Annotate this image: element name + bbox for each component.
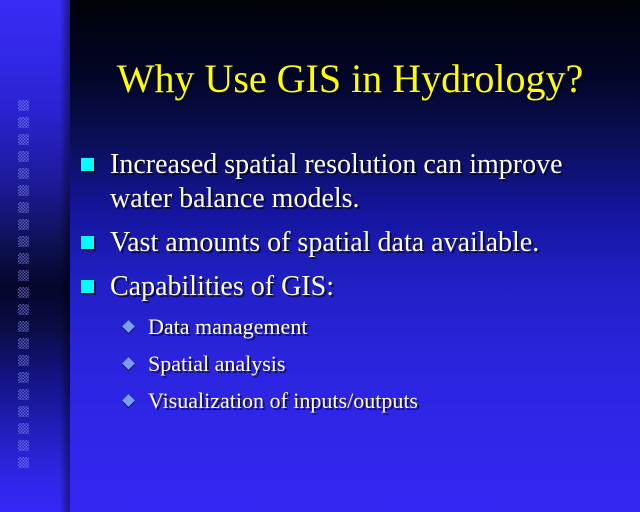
bullet-text: Capabilities of GIS: [110,271,334,302]
sidebar-dot [18,457,29,468]
slide-body: Increased spatial resolution can improve… [78,148,628,425]
sidebar-dot [18,168,29,179]
diamond-bullet-icon [122,394,135,407]
sidebar-dot-pattern [18,100,30,480]
sidebar-dot [18,423,29,434]
slide-title: Why Use GIS in Hydrology? [70,56,630,102]
sidebar-dot [18,440,29,451]
sidebar-edge-shadow [60,0,70,512]
sidebar-dot [18,202,29,213]
sidebar-dot [18,372,29,383]
sidebar-dot [18,304,29,315]
sidebar-dot [18,100,29,111]
square-bullet-icon [81,236,94,249]
sidebar-dot [18,236,29,247]
list-item: Data management [122,314,628,340]
sub-bullet-text: Data management [148,314,307,339]
list-item: Increased spatial resolution can improve… [78,148,628,216]
diamond-bullet-icon [122,320,135,333]
square-bullet-icon [81,158,94,171]
list-item: Visualization of inputs/outputs [122,388,628,414]
diamond-bullet-icon [122,357,135,370]
sub-bullet-text: Spatial analysis [148,351,285,376]
sidebar-dot [18,389,29,400]
bullet-text: Vast amounts of spatial data available. [110,227,539,258]
sidebar-dot [18,406,29,417]
presentation-slide: Why Use GIS in Hydrology? Increased spat… [0,0,640,512]
sidebar-dot [18,287,29,298]
sidebar-dot [18,134,29,145]
sub-bullet-list: Data management Spatial analysis Visuali… [78,314,628,414]
sidebar-dot [18,321,29,332]
list-item: Capabilities of GIS: [78,270,628,304]
sidebar-dot [18,185,29,196]
sidebar-dot [18,151,29,162]
list-item: Spatial analysis [122,351,628,377]
sidebar-dot [18,219,29,230]
sidebar-dot [18,117,29,128]
sidebar-dot [18,355,29,366]
bullet-text: Increased spatial resolution can improve… [110,149,563,214]
sidebar-dot [18,253,29,264]
list-item: Vast amounts of spatial data available. [78,226,628,260]
sidebar-dot [18,270,29,281]
sidebar-dot [18,338,29,349]
sub-bullet-text: Visualization of inputs/outputs [148,388,418,413]
square-bullet-icon [81,280,94,293]
